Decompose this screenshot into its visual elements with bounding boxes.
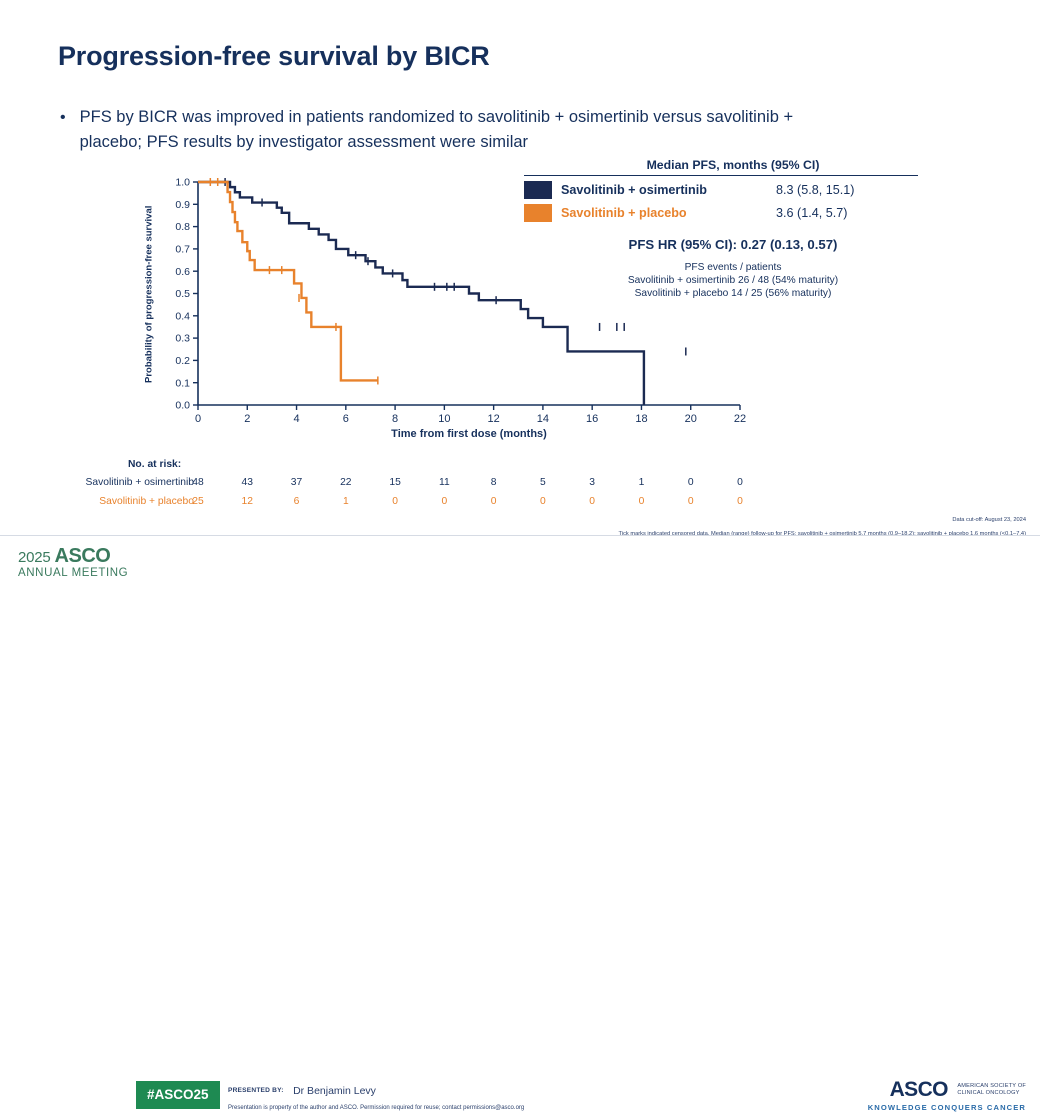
asco-logo-subtitle-line1: AMERICAN SOCIETY OF — [957, 1083, 1026, 1090]
risk-cell: 0 — [626, 496, 656, 507]
asco-logo-subtitle: AMERICAN SOCIETY OF CLINICAL ONCOLOGY — [957, 1083, 1026, 1097]
x-tick-label: 14 — [537, 413, 549, 425]
y-tick-label: 0.9 — [175, 199, 190, 211]
y-tick-label: 0.7 — [175, 244, 190, 256]
asco-logo-wordmark: ASCO — [890, 1078, 948, 1102]
risk-cell: 0 — [725, 496, 755, 507]
presented-by-block: PRESENTED BY: Dr Benjamin Levy Presentat… — [228, 1082, 524, 1111]
stats-divider — [524, 175, 918, 176]
risk-cell: 5 — [528, 477, 558, 488]
events-block: PFS events / patients Savolitinib + osim… — [524, 261, 924, 300]
events-line-osimertinib: Savolitinib + osimertinib 26 / 48 (54% m… — [542, 274, 924, 287]
bullet-row: • PFS by BICR was improved in patients r… — [60, 105, 860, 155]
page-title: Progression-free survival by BICR — [58, 41, 490, 72]
risk-row-label: Savolitinib + placebo — [99, 496, 194, 507]
y-tick-label: 0.1 — [175, 377, 190, 389]
risk-table-caption: No. at risk: — [128, 459, 181, 470]
risk-cell: 11 — [429, 477, 459, 488]
x-tick-label: 18 — [635, 413, 647, 425]
x-tick-label: 22 — [734, 413, 746, 425]
legend-swatch — [524, 204, 552, 222]
y-tick-label: 0.0 — [175, 400, 190, 412]
risk-cell: 3 — [577, 477, 607, 488]
legend-row: Savolitinib + placebo3.6 (1.4, 5.7) — [524, 204, 924, 222]
risk-cell: 0 — [380, 496, 410, 507]
y-tick-label: 0.3 — [175, 333, 190, 345]
asco-tagline: KNOWLEDGE CONQUERS CANCER — [868, 1103, 1026, 1112]
y-tick-label: 0.8 — [175, 221, 190, 233]
y-tick-label: 0.5 — [175, 288, 190, 300]
x-tick-label: 16 — [586, 413, 598, 425]
risk-row: Savolitinib + placebo25126100000000 — [0, 496, 1040, 511]
risk-cell: 1 — [626, 477, 656, 488]
risk-cell: 48 — [183, 477, 213, 488]
x-tick-label: 12 — [488, 413, 500, 425]
risk-cell: 37 — [282, 477, 312, 488]
risk-cell: 43 — [232, 477, 262, 488]
asco-annual-meeting-logo: 2025 ASCO ANNUAL MEETING — [18, 545, 128, 579]
x-tick-label: 10 — [438, 413, 450, 425]
x-tick-label: 2 — [244, 413, 250, 425]
risk-cell: 0 — [528, 496, 558, 507]
y-tick-label: 0.2 — [175, 355, 190, 367]
y-tick-label: 1.0 — [175, 177, 190, 189]
risk-cell: 15 — [380, 477, 410, 488]
footer-annual-meeting: ANNUAL MEETING — [18, 567, 128, 579]
x-tick-label: 6 — [343, 413, 349, 425]
legend-row: Savolitinib + osimertinib8.3 (5.8, 15.1) — [524, 181, 924, 199]
presented-by-label: PRESENTED BY: — [228, 1087, 284, 1094]
data-cutoff-note: Data cut-off: August 23, 2024 — [952, 517, 1026, 523]
hazard-ratio-line: PFS HR (95% CI): 0.27 (0.13, 0.57) — [524, 237, 924, 252]
risk-cell: 0 — [429, 496, 459, 507]
bullet-marker: • — [60, 105, 66, 155]
footer-year: 2025 — [18, 549, 51, 566]
x-tick-label: 4 — [293, 413, 299, 425]
risk-cell: 8 — [479, 477, 509, 488]
x-tick-label: 20 — [685, 413, 697, 425]
asco-logo: ASCO AMERICAN SOCIETY OF CLINICAL ONCOLO… — [868, 1078, 1026, 1112]
risk-cell: 0 — [479, 496, 509, 507]
stats-block: Median PFS, months (95% CI) Savolitinib … — [524, 158, 924, 300]
y-axis-title: Probability of progression-free survival — [141, 186, 157, 402]
risk-row: Savolitinib + osimertinib484337221511853… — [0, 477, 1040, 492]
risk-cell: 0 — [676, 477, 706, 488]
y-tick-label: 0.6 — [175, 266, 190, 278]
x-axis-title: Time from first dose (months) — [198, 428, 740, 440]
risk-cell: 0 — [725, 477, 755, 488]
property-note: Presentation is property of the author a… — [228, 1105, 524, 1111]
legend-median-value: 8.3 (5.8, 15.1) — [776, 183, 854, 197]
stats-header: Median PFS, months (95% CI) — [524, 158, 924, 172]
legend-label: Savolitinib + osimertinib — [561, 183, 776, 197]
events-header: PFS events / patients — [542, 261, 924, 274]
risk-cell: 22 — [331, 477, 361, 488]
risk-row-label: Savolitinib + osimertinib — [86, 477, 194, 488]
x-tick-label: 0 — [195, 413, 201, 425]
x-tick-label: 8 — [392, 413, 398, 425]
risk-cell: 12 — [232, 496, 262, 507]
y-tick-label: 0.4 — [175, 310, 190, 322]
hashtag-badge[interactable]: #ASCO25 — [136, 1081, 220, 1109]
legend-label: Savolitinib + placebo — [561, 206, 776, 220]
risk-cell: 6 — [282, 496, 312, 507]
risk-cell: 25 — [183, 496, 213, 507]
risk-cell: 0 — [676, 496, 706, 507]
risk-cell: 0 — [577, 496, 607, 507]
presenter-name: Dr Benjamin Levy — [293, 1085, 376, 1097]
asco-logo-subtitle-line2: CLINICAL ONCOLOGY — [957, 1090, 1026, 1097]
footer-asco-wordmark: ASCO — [55, 545, 111, 567]
bullet-text: PFS by BICR was improved in patients ran… — [80, 105, 840, 155]
slide: Progression-free survival by BICR • PFS … — [0, 0, 1040, 585]
legend-swatch — [524, 181, 552, 199]
legend-median-value: 3.6 (1.4, 5.7) — [776, 206, 847, 220]
km-curve — [198, 182, 378, 380]
footer-bar: 2025 ASCO ANNUAL MEETING #ASCO25 PRESENT… — [0, 535, 1040, 585]
legend: Savolitinib + osimertinib8.3 (5.8, 15.1)… — [524, 181, 924, 222]
events-line-placebo: Savolitinib + placebo 14 / 25 (56% matur… — [542, 287, 924, 300]
risk-cell: 1 — [331, 496, 361, 507]
